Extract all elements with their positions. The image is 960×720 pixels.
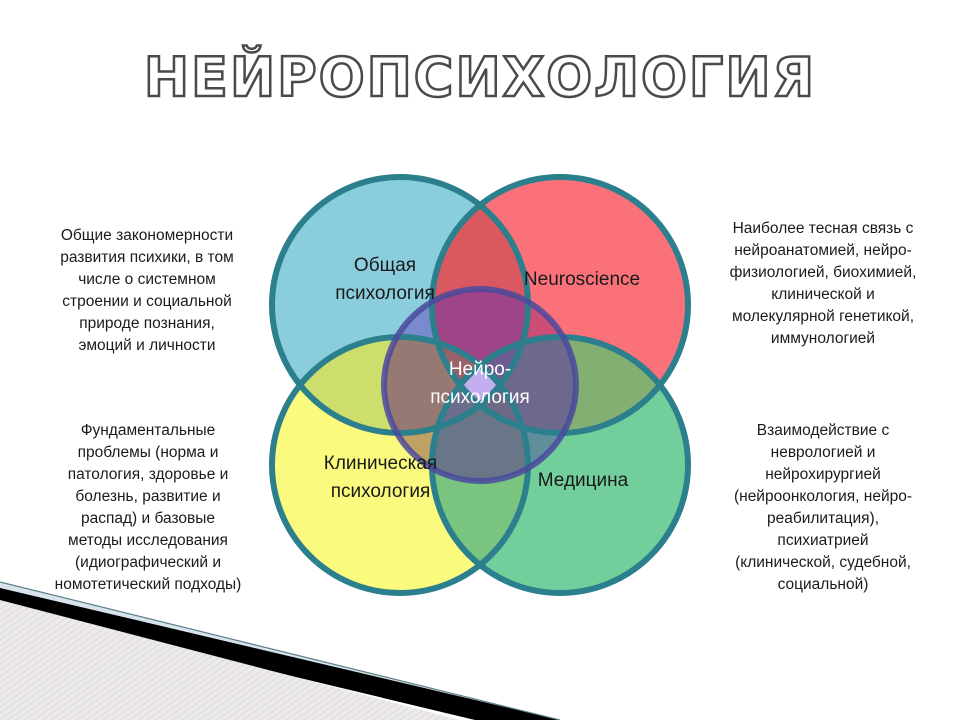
annotation-bottom-left: Фундаментальные проблемы (норма и патоло… [30, 420, 266, 596]
annotation-bottom-right: Взаимодействие с неврологией и нейрохиру… [700, 420, 946, 596]
page-title: НЕЙРОПСИХОЛОГИЯ [0, 46, 960, 109]
venn-label-medicine: Медицина [513, 467, 653, 495]
annotation-top-left: Общие закономерности развития психики, в… [32, 225, 262, 357]
venn-label-general: Общая психология [315, 252, 455, 307]
annotation-top-right: Наиболее тесная связь с нейроанатомией, … [700, 218, 946, 350]
venn-label-clinical: Клиническая психология [303, 450, 458, 505]
venn-label-neuropsychology: Нейро- психология [395, 356, 565, 411]
venn-label-neuroscience: Neuroscience [507, 266, 657, 294]
band-hatch-area [0, 600, 460, 720]
venn-diagram: Общая психология Neuroscience Клиническа… [255, 160, 705, 610]
